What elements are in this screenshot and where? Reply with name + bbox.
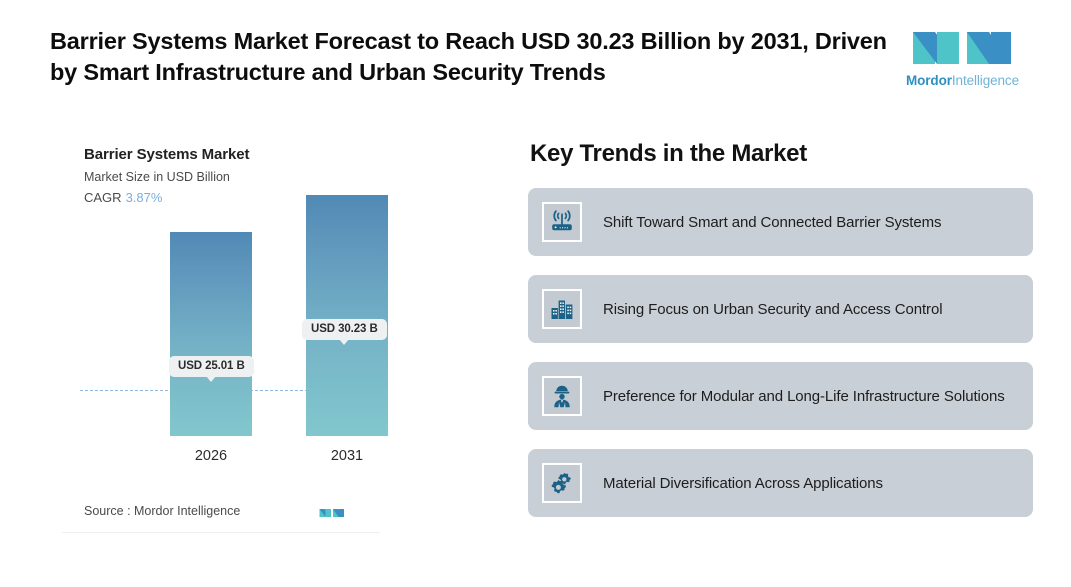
construction-worker-icon xyxy=(542,376,582,416)
brand-wordmark: MordorIntelligence xyxy=(906,73,1019,88)
bar-2026 xyxy=(170,232,252,436)
trend-label-2: Rising Focus on Urban Security and Acces… xyxy=(603,299,942,320)
chart-title: Barrier Systems Market xyxy=(84,146,249,163)
chart-source-text: Source : Mordor Intelligence xyxy=(84,504,240,518)
chart-cagr: CAGR3.87% xyxy=(84,190,162,205)
header: Barrier Systems Market Forecast to Reach… xyxy=(0,0,1071,112)
market-size-chart-card: Barrier Systems Market Market Size in US… xyxy=(62,132,380,533)
bar-value-label-2031: USD 30.23 B xyxy=(302,319,387,340)
page-title: Barrier Systems Market Forecast to Reach… xyxy=(50,26,890,88)
chart-source-logo-icon xyxy=(318,504,346,521)
bar-value-label-2026: USD 25.01 B xyxy=(169,356,254,377)
trend-card-1[interactable]: Shift Toward Smart and Connected Barrier… xyxy=(528,188,1033,256)
city-buildings-icon xyxy=(542,289,582,329)
mordor-intelligence-logo-icon xyxy=(907,22,1019,70)
trend-card-3[interactable]: Preference for Modular and Long-Life Inf… xyxy=(528,362,1033,430)
trend-label-4: Material Diversification Across Applicat… xyxy=(603,473,883,494)
trend-label-3: Preference for Modular and Long-Life Inf… xyxy=(603,386,1005,407)
trend-card-2[interactable]: Rising Focus on Urban Security and Acces… xyxy=(528,275,1033,343)
brand-logo: MordorIntelligence xyxy=(900,22,1025,94)
trend-label-1: Shift Toward Smart and Connected Barrier… xyxy=(603,212,941,233)
x-axis-label-2026: 2026 xyxy=(170,448,252,464)
chart-cagr-label: CAGR xyxy=(84,190,122,205)
key-trends-panel: Key Trends in the Market Shift Toward Sm… xyxy=(528,140,1033,536)
x-axis-label-2031: 2031 xyxy=(306,448,388,464)
brand-wordmark-bold: Mordor xyxy=(906,73,952,88)
chart-subtitle: Market Size in USD Billion xyxy=(84,170,230,184)
bar-2031 xyxy=(306,195,388,436)
trend-card-4[interactable]: Material Diversification Across Applicat… xyxy=(528,449,1033,517)
key-trends-heading: Key Trends in the Market xyxy=(530,140,1033,168)
gears-icon xyxy=(542,463,582,503)
wireless-router-icon xyxy=(542,202,582,242)
brand-wordmark-light: Intelligence xyxy=(952,73,1019,88)
chart-cagr-value: 3.87% xyxy=(126,190,163,205)
bar-chart-plot-area: USD 25.01 B USD 30.23 B 2026 2031 xyxy=(62,228,380,478)
